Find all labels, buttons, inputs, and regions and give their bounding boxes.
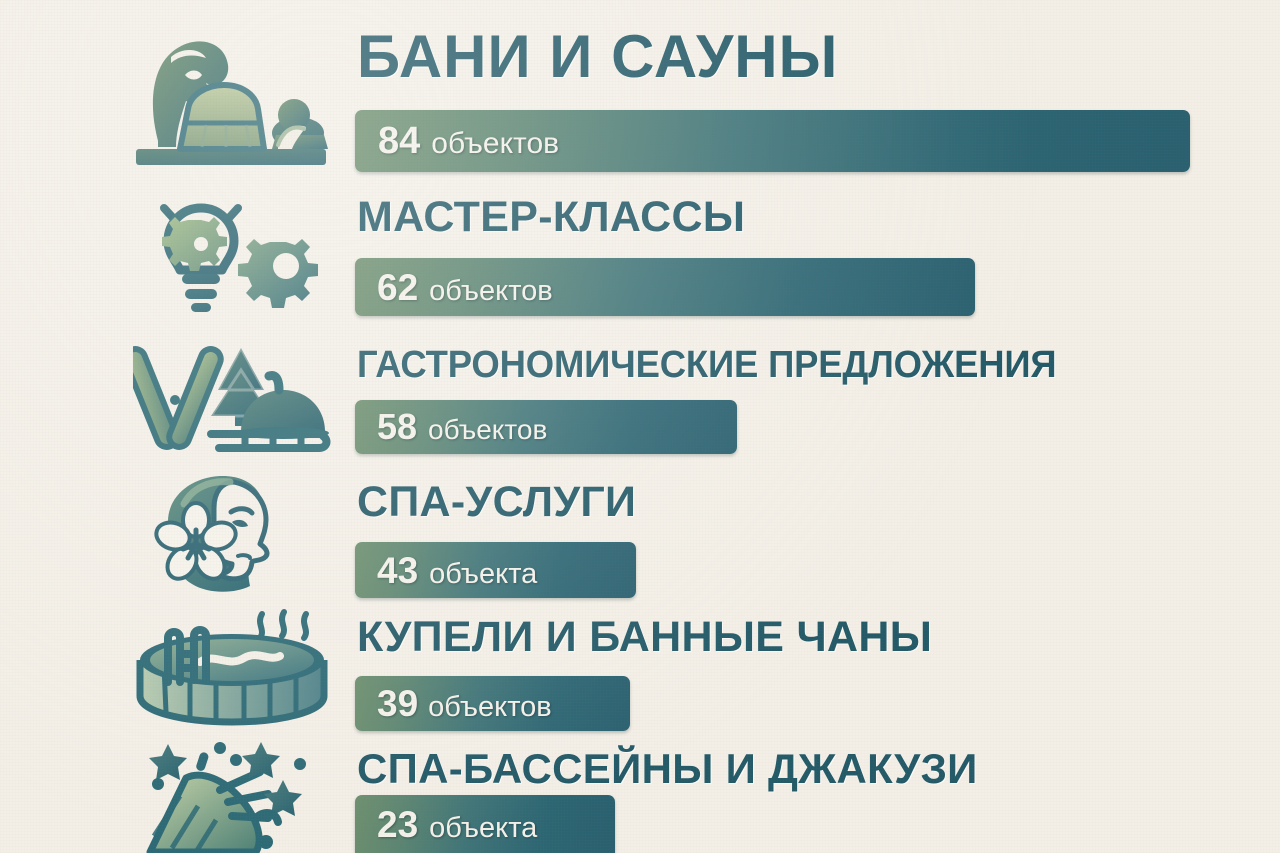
bar-unit-6: объекта	[429, 814, 537, 843]
row-label-3: ГАСТРОНОМИЧЕСКИЕ ПРЕДЛОЖЕНИЯ	[357, 346, 1056, 384]
bar-unit-5: объектов	[428, 693, 552, 722]
bar-value-1: 84	[378, 122, 420, 160]
bar-value-2: 62	[377, 269, 418, 306]
bar-unit-3: объектов	[428, 416, 547, 444]
row-label-6: СПА-БАССЕЙНЫ И ДЖАКУЗИ	[357, 748, 978, 790]
row-label-5: КУПЕЛИ И БАННЫЕ ЧАНЫ	[357, 616, 932, 659]
bar-unit-1: объектов	[431, 129, 559, 159]
infographic-sheet: БАНИ И САУНЫ 84 объектов	[0, 0, 1280, 853]
bar-unit-4: объекта	[429, 560, 537, 589]
bar-value-6: 23	[377, 806, 418, 843]
party-popper-icon	[118, 736, 348, 853]
woman-flower-profile-icon	[118, 468, 348, 598]
row-label-2: МАСТЕР-КЛАССЫ	[357, 196, 745, 239]
row-label-4: СПА-УСЛУГИ	[357, 481, 636, 524]
bar-3: 58 объектов	[355, 400, 737, 454]
row-label-1: БАНИ И САУНЫ	[357, 27, 838, 87]
lightbulb-gear-icon	[118, 182, 348, 318]
bar-1: 84 объектов	[355, 110, 1190, 172]
sauna-stove-icon	[118, 22, 348, 174]
bar-6: 23 объекта	[355, 795, 615, 853]
bar-4: 43 объекта	[355, 542, 636, 598]
hot-tub-icon	[118, 604, 348, 730]
bar-unit-2: объектов	[429, 277, 553, 306]
bar-value-3: 58	[377, 409, 417, 445]
bar-2: 62 объектов	[355, 258, 975, 316]
bar-value-5: 39	[377, 685, 418, 722]
bar-value-4: 43	[377, 552, 418, 589]
skis-sled-cloche-icon	[118, 334, 348, 462]
bar-5: 39 объектов	[355, 676, 630, 731]
